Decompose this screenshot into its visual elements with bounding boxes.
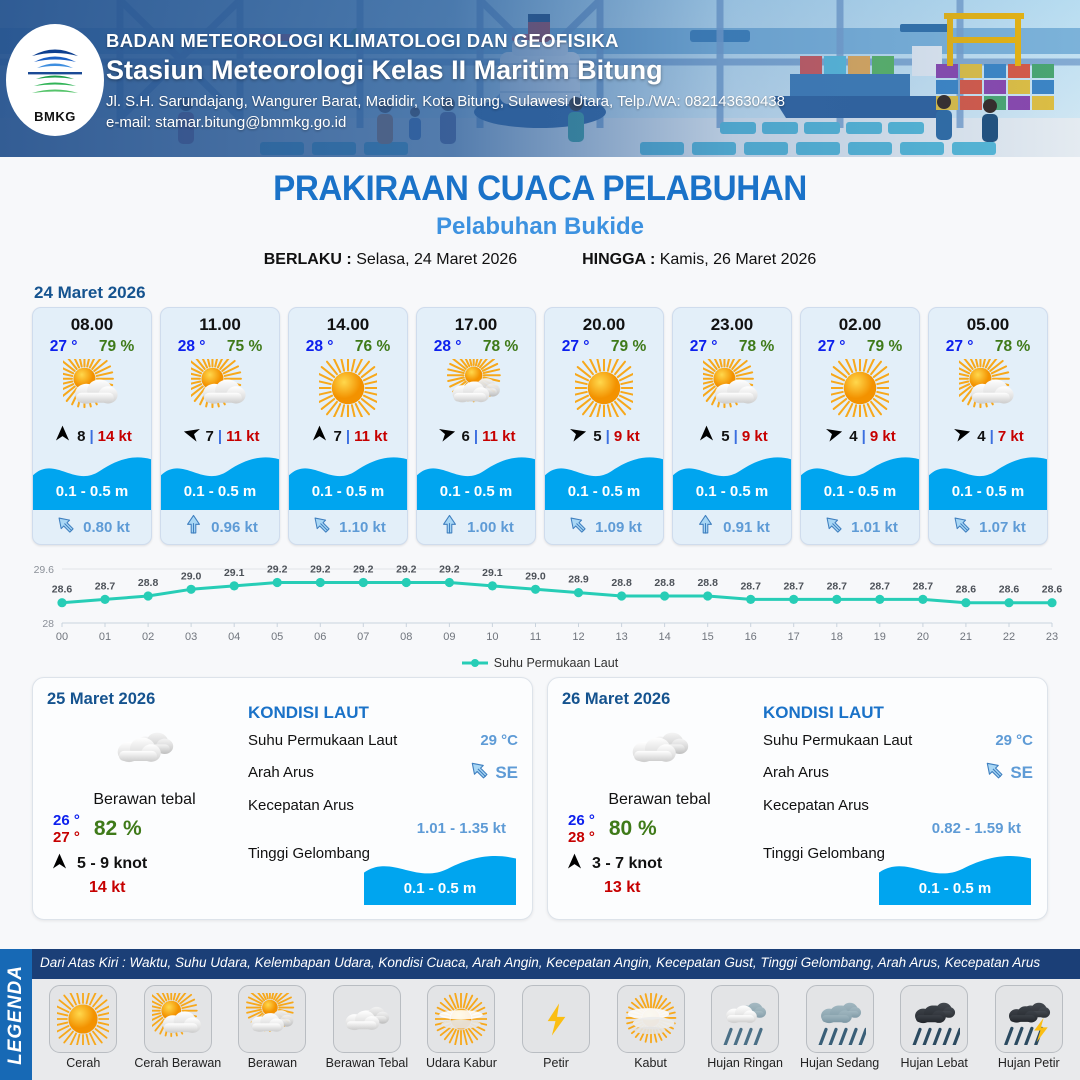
card-wave-height: 0.1 - 0.5 m <box>545 483 663 500</box>
card-wind-speed: 7 <box>206 428 214 445</box>
card-current-speed: 1.01 kt <box>851 519 898 536</box>
svg-text:28.7: 28.7 <box>740 580 761 592</box>
card-humidity: 75 % <box>227 338 262 356</box>
validity-line: BERLAKU : Selasa, 24 Maret 2026 HINGGA :… <box>0 251 1080 269</box>
legend-item-label: Berawan <box>248 1056 297 1070</box>
panel-sea-section-title: KONDISI LAUT <box>763 703 1033 723</box>
svg-text:29.2: 29.2 <box>396 564 417 576</box>
legend-hujan-lebat-icon <box>900 985 968 1053</box>
svg-text:28.7: 28.7 <box>783 580 804 592</box>
card-wind-direction-arrow-icon <box>824 423 845 449</box>
hourly-forecast-row: 08.00 27 ° 79 % 8 | 14 kt 0.1 - 0.5 m 0.… <box>0 307 1080 545</box>
svg-text:29.6: 29.6 <box>34 564 55 576</box>
panel-temp-min: 26 ° <box>53 812 80 829</box>
card-weather-berawan-icon <box>417 356 535 420</box>
card-humidity: 79 % <box>867 338 902 356</box>
svg-text:00: 00 <box>56 631 68 643</box>
panel-sst-label: Suhu Permukaan Laut <box>763 732 912 749</box>
card-humidity: 78 % <box>995 338 1030 356</box>
svg-text:29.2: 29.2 <box>439 564 460 576</box>
card-gust: 14 kt <box>98 428 132 445</box>
header-text-block: BADAN METEOROLOGI KLIMATOLOGI DAN GEOFIS… <box>106 30 785 131</box>
card-separator: | <box>346 428 350 445</box>
svg-text:28.7: 28.7 <box>95 580 116 592</box>
legend-udara-kabur-icon <box>427 985 495 1053</box>
panel-current-speed-label: Kecepatan Arus <box>248 797 354 814</box>
card-wave-band: 0.1 - 0.5 m <box>545 452 663 510</box>
card-wave-band: 0.1 - 0.5 m <box>417 452 535 510</box>
svg-text:28.9: 28.9 <box>568 574 589 586</box>
forecast-card: 14.00 28 ° 76 % 7 | 11 kt 0.1 - 0.5 m 1.… <box>288 307 408 545</box>
svg-text:28.8: 28.8 <box>697 577 718 589</box>
legend-strip: LEGENDA Dari Atas Kiri : Waktu, Suhu Uda… <box>0 949 1080 1080</box>
svg-text:17: 17 <box>788 631 800 643</box>
card-temperature: 27 ° <box>562 338 590 356</box>
forecast-card: 02.00 27 ° 79 % 4 | 9 kt 0.1 - 0.5 m 1.0… <box>800 307 920 545</box>
panel-current-direction-arrow-icon <box>982 758 1006 787</box>
svg-text:28.6: 28.6 <box>999 584 1020 596</box>
card-separator: | <box>474 428 478 445</box>
card-weather-cerah-berawan-icon <box>673 356 791 420</box>
card-wind-direction-arrow-icon <box>568 423 589 449</box>
legend-item: Petir <box>509 985 604 1070</box>
panel-humidity: 80 % <box>609 817 657 841</box>
legend-item: Cerah Berawan <box>131 985 226 1070</box>
card-temperature: 27 ° <box>946 338 974 356</box>
panel-weather-berawan-tebal-icon <box>562 711 757 785</box>
card-wave-height: 0.1 - 0.5 m <box>161 483 279 500</box>
legend-hujan-petir-icon <box>995 985 1063 1053</box>
card-current-speed: 1.10 kt <box>339 519 386 536</box>
card-weather-cerah-icon <box>801 356 919 420</box>
panel-current-dir-value: SE <box>1010 763 1033 783</box>
forecast-day-label: 24 Maret 2026 <box>34 283 1080 303</box>
legend-cerah-berawan-icon <box>144 985 212 1053</box>
svg-text:03: 03 <box>185 631 197 643</box>
title-block: PRAKIRAAN CUACA PELABUHAN Pelabuhan Buki… <box>0 157 1080 269</box>
daily-forecast-panels: 25 Maret 2026 Berawan tebal 26 ° 27 ° 82… <box>0 667 1080 920</box>
forecast-card: 08.00 27 ° 79 % 8 | 14 kt 0.1 - 0.5 m 0.… <box>32 307 152 545</box>
agency-name: BADAN METEOROLOGI KLIMATOLOGI DAN GEOFIS… <box>106 30 785 52</box>
panel-wave-label: Tinggi Gelombang <box>248 845 370 862</box>
bmkg-logo-icon <box>18 37 92 111</box>
page-subtitle: Pelabuhan Bukide <box>0 213 1080 241</box>
daily-panel: 25 Maret 2026 Berawan tebal 26 ° 27 ° 82… <box>32 677 533 920</box>
card-current-direction-arrow-icon <box>310 513 333 541</box>
card-gust: 7 kt <box>998 428 1024 445</box>
panel-sea-section-title: KONDISI LAUT <box>248 703 518 723</box>
svg-text:07: 07 <box>357 631 369 643</box>
legend-item: Udara Kabur <box>414 985 509 1070</box>
page-header: BMKG BADAN METEOROLOGI KLIMATOLOGI DAN G… <box>0 0 1080 157</box>
legend-side-title: LEGENDA <box>0 949 32 1080</box>
chart-legend-label: Suhu Permukaan Laut <box>494 656 618 670</box>
card-weather-cerah-berawan-icon <box>929 356 1047 420</box>
card-wave-height: 0.1 - 0.5 m <box>289 483 407 500</box>
sst-chart: 29.62828.60028.70128.80229.00329.10429.2… <box>0 557 1080 667</box>
legend-item: Berawan Tebal <box>320 985 415 1070</box>
panel-left: 26 Maret 2026 Berawan tebal 26 ° 28 ° 80… <box>562 690 757 907</box>
legend-item: Hujan Ringan <box>698 985 793 1070</box>
panel-date: 26 Maret 2026 <box>562 690 757 709</box>
panel-wave-band: 0.1 - 0.5 m <box>364 851 516 905</box>
svg-text:14: 14 <box>658 631 670 643</box>
card-current-direction-arrow-icon <box>950 513 973 541</box>
card-wind-speed: 5 <box>593 428 601 445</box>
card-weather-cerah-icon <box>545 356 663 420</box>
card-temperature: 28 ° <box>434 338 462 356</box>
chart-legend: Suhu Permukaan Laut <box>0 656 1080 670</box>
card-time: 05.00 <box>929 308 1047 335</box>
panel-wave-label: Tinggi Gelombang <box>763 845 885 862</box>
legend-item: Cerah <box>36 985 131 1070</box>
legend-item-label: Udara Kabur <box>426 1056 497 1070</box>
svg-text:28.6: 28.6 <box>1042 584 1063 596</box>
panel-sst-value: 29 °C <box>995 732 1033 749</box>
card-separator: | <box>990 428 994 445</box>
svg-text:29.1: 29.1 <box>482 567 503 579</box>
station-email: e-mail: stamar.bitung@bmmkg.go.id <box>106 114 785 131</box>
panel-right: KONDISI LAUT Suhu Permukaan Laut 29 °C A… <box>242 690 518 907</box>
legend-item-label: Cerah <box>66 1056 100 1070</box>
card-current-speed: 1.09 kt <box>595 519 642 536</box>
berlaku-value: Selasa, 24 Maret 2026 <box>356 251 517 268</box>
panel-current-direction-arrow-icon <box>467 758 491 787</box>
legend-item: Berawan <box>225 985 320 1070</box>
legend-note: Dari Atas Kiri : Waktu, Suhu Udara, Kele… <box>32 949 1080 979</box>
station-name: Stasiun Meteorologi Kelas II Maritim Bit… <box>106 55 785 86</box>
chart-legend-marker-icon <box>462 658 488 668</box>
card-gust: 11 kt <box>226 428 259 445</box>
card-separator: | <box>606 428 610 445</box>
card-current-direction-arrow-icon <box>438 513 461 541</box>
svg-text:28.7: 28.7 <box>827 580 848 592</box>
panel-wave-value: 0.1 - 0.5 m <box>364 880 516 897</box>
forecast-card: 11.00 28 ° 75 % 7 | 11 kt 0.1 - 0.5 m 0.… <box>160 307 280 545</box>
card-time: 14.00 <box>289 308 407 335</box>
svg-text:29.2: 29.2 <box>310 564 331 576</box>
legend-item: Hujan Petir <box>981 985 1076 1070</box>
card-wave-height: 0.1 - 0.5 m <box>417 483 535 500</box>
legend-item-label: Hujan Lebat <box>900 1056 967 1070</box>
card-separator: | <box>89 428 93 445</box>
svg-text:22: 22 <box>1003 631 1015 643</box>
card-gust: 11 kt <box>354 428 387 445</box>
card-weather-cerah-berawan-icon <box>161 356 279 420</box>
card-current-speed: 0.91 kt <box>723 519 770 536</box>
card-wave-band: 0.1 - 0.5 m <box>33 452 151 510</box>
svg-text:28.8: 28.8 <box>654 577 675 589</box>
forecast-card: 17.00 28 ° 78 % 6 | 11 kt 0.1 - 0.5 m 1.… <box>416 307 536 545</box>
card-time: 20.00 <box>545 308 663 335</box>
hingga-value: Kamis, 26 Maret 2026 <box>660 251 817 268</box>
hingga-label: HINGGA : <box>582 251 655 268</box>
panel-weather-berawan-tebal-icon <box>47 711 242 785</box>
panel-humidity: 82 % <box>94 817 142 841</box>
svg-text:08: 08 <box>400 631 412 643</box>
card-humidity: 76 % <box>355 338 390 356</box>
card-humidity: 79 % <box>611 338 646 356</box>
svg-text:28.7: 28.7 <box>913 580 934 592</box>
card-weather-cerah-icon <box>289 356 407 420</box>
panel-wind-direction-arrow-icon <box>49 851 70 877</box>
legend-hujan-ringan-icon <box>711 985 779 1053</box>
svg-text:28.6: 28.6 <box>956 584 977 596</box>
card-current-direction-arrow-icon <box>694 513 717 541</box>
forecast-card: 20.00 27 ° 79 % 5 | 9 kt 0.1 - 0.5 m 1.0… <box>544 307 664 545</box>
card-wind-speed: 5 <box>721 428 729 445</box>
card-weather-cerah-berawan-icon <box>33 356 151 420</box>
panel-sst-value: 29 °C <box>480 732 518 749</box>
card-wind-direction-arrow-icon <box>181 423 202 449</box>
card-separator: | <box>218 428 222 445</box>
svg-text:21: 21 <box>960 631 972 643</box>
card-temperature: 28 ° <box>178 338 206 356</box>
card-time: 23.00 <box>673 308 791 335</box>
card-temperature: 28 ° <box>306 338 334 356</box>
card-temperature: 27 ° <box>690 338 718 356</box>
svg-text:09: 09 <box>443 631 455 643</box>
card-current-direction-arrow-icon <box>54 513 77 541</box>
card-time: 11.00 <box>161 308 279 335</box>
page-title: PRAKIRAAN CUACA PELABUHAN <box>27 169 1053 209</box>
legend-berawan-tebal-icon <box>333 985 401 1053</box>
svg-text:28.8: 28.8 <box>138 577 159 589</box>
card-wave-height: 0.1 - 0.5 m <box>929 483 1047 500</box>
svg-text:15: 15 <box>702 631 714 643</box>
card-wind-direction-arrow-icon <box>696 423 717 449</box>
legend-item-label: Hujan Petir <box>998 1056 1060 1070</box>
panel-current-dir-value: SE <box>495 763 518 783</box>
card-time: 08.00 <box>33 308 151 335</box>
legend-item-label: Hujan Ringan <box>707 1056 783 1070</box>
card-humidity: 78 % <box>739 338 774 356</box>
svg-text:28: 28 <box>42 618 54 630</box>
sst-chart-svg: 29.62828.60028.70128.80229.00329.10429.2… <box>0 557 1080 649</box>
panel-condition: Berawan tebal <box>47 791 242 809</box>
panel-gust: 14 kt <box>47 879 242 897</box>
svg-text:11: 11 <box>530 631 541 643</box>
legend-item-label: Petir <box>543 1056 569 1070</box>
daily-panel: 26 Maret 2026 Berawan tebal 26 ° 28 ° 80… <box>547 677 1048 920</box>
card-separator: | <box>734 428 738 445</box>
card-wave-band: 0.1 - 0.5 m <box>801 452 919 510</box>
svg-text:04: 04 <box>228 631 240 643</box>
card-wave-band: 0.1 - 0.5 m <box>673 452 791 510</box>
legend-item: Hujan Lebat <box>887 985 982 1070</box>
card-temperature: 27 ° <box>50 338 78 356</box>
card-current-direction-arrow-icon <box>566 513 589 541</box>
legend-berawan-icon <box>238 985 306 1053</box>
card-current-speed: 1.07 kt <box>979 519 1026 536</box>
panel-wave-value: 0.1 - 0.5 m <box>879 880 1031 897</box>
legend-kabut-icon <box>617 985 685 1053</box>
svg-text:28.7: 28.7 <box>870 580 891 592</box>
panel-current-dir-label: Arah Arus <box>763 764 829 781</box>
card-gust: 11 kt <box>482 428 515 445</box>
card-wave-height: 0.1 - 0.5 m <box>673 483 791 500</box>
panel-right: KONDISI LAUT Suhu Permukaan Laut 29 °C A… <box>757 690 1033 907</box>
card-current-speed: 0.96 kt <box>211 519 258 536</box>
svg-text:29.1: 29.1 <box>224 567 245 579</box>
card-wind-direction-arrow-icon <box>952 423 973 449</box>
card-wave-band: 0.1 - 0.5 m <box>289 452 407 510</box>
legend-hujan-sedang-icon <box>806 985 874 1053</box>
forecast-card: 23.00 27 ° 78 % 5 | 9 kt 0.1 - 0.5 m 0.9… <box>672 307 792 545</box>
card-wind-speed: 4 <box>849 428 857 445</box>
bmkg-logo: BMKG <box>6 24 104 136</box>
card-wind-direction-arrow-icon <box>437 423 458 449</box>
svg-text:12: 12 <box>572 631 584 643</box>
svg-text:29.0: 29.0 <box>525 570 546 582</box>
svg-text:06: 06 <box>314 631 326 643</box>
card-gust: 9 kt <box>742 428 768 445</box>
card-wind-speed: 7 <box>334 428 342 445</box>
card-wind-speed: 6 <box>462 428 470 445</box>
panel-wind-range: 5 - 9 knot <box>77 855 147 873</box>
panel-current-speed-value: 0.82 - 1.59 kt <box>763 820 1033 837</box>
legend-item-label: Hujan Sedang <box>800 1056 879 1070</box>
legend-petir-icon <box>522 985 590 1053</box>
panel-sst-label: Suhu Permukaan Laut <box>248 732 397 749</box>
svg-text:02: 02 <box>142 631 154 643</box>
panel-temp-max: 28 ° <box>568 829 595 846</box>
card-current-direction-arrow-icon <box>822 513 845 541</box>
legend-item-label: Berawan Tebal <box>326 1056 408 1070</box>
legend-body: Dari Atas Kiri : Waktu, Suhu Udara, Kele… <box>32 949 1080 1080</box>
legend-side-title-text: LEGENDA <box>5 965 27 1065</box>
panel-temp-max: 27 ° <box>53 829 80 846</box>
svg-text:01: 01 <box>99 631 111 643</box>
svg-text:13: 13 <box>615 631 627 643</box>
card-time: 17.00 <box>417 308 535 335</box>
svg-text:29.2: 29.2 <box>353 564 374 576</box>
card-separator: | <box>862 428 866 445</box>
svg-text:05: 05 <box>271 631 283 643</box>
card-humidity: 78 % <box>483 338 518 356</box>
card-wave-height: 0.1 - 0.5 m <box>801 483 919 500</box>
card-wave-band: 0.1 - 0.5 m <box>161 452 279 510</box>
panel-wind-direction-arrow-icon <box>564 851 585 877</box>
panel-gust: 13 kt <box>562 879 757 897</box>
svg-text:18: 18 <box>831 631 843 643</box>
panel-current-speed-value: 1.01 - 1.35 kt <box>248 820 518 837</box>
card-gust: 9 kt <box>870 428 896 445</box>
card-wind-speed: 8 <box>77 428 85 445</box>
svg-text:23: 23 <box>1046 631 1058 643</box>
legend-items: Cerah Cerah Berawan Berawan Berawan Teba… <box>32 979 1080 1080</box>
card-humidity: 79 % <box>99 338 134 356</box>
panel-current-speed-label: Kecepatan Arus <box>763 797 869 814</box>
panel-wind-range: 3 - 7 knot <box>592 855 662 873</box>
svg-text:19: 19 <box>874 631 886 643</box>
card-current-speed: 1.00 kt <box>467 519 514 536</box>
svg-text:28.6: 28.6 <box>52 584 73 596</box>
svg-text:10: 10 <box>486 631 498 643</box>
panel-condition: Berawan tebal <box>562 791 757 809</box>
berlaku-label: BERLAKU : <box>264 251 352 268</box>
panel-temp-min: 26 ° <box>568 812 595 829</box>
svg-text:29.2: 29.2 <box>267 564 288 576</box>
card-time: 02.00 <box>801 308 919 335</box>
card-current-direction-arrow-icon <box>182 513 205 541</box>
card-temperature: 27 ° <box>818 338 846 356</box>
svg-text:29.0: 29.0 <box>181 570 202 582</box>
panel-left: 25 Maret 2026 Berawan tebal 26 ° 27 ° 82… <box>47 690 242 907</box>
legend-item: Hujan Sedang <box>792 985 887 1070</box>
legend-item-label: Kabut <box>634 1056 667 1070</box>
card-current-speed: 0.80 kt <box>83 519 130 536</box>
card-wind-direction-arrow-icon <box>309 423 330 449</box>
card-wind-speed: 4 <box>977 428 985 445</box>
card-gust: 9 kt <box>614 428 640 445</box>
legend-item: Kabut <box>603 985 698 1070</box>
panel-date: 25 Maret 2026 <box>47 690 242 709</box>
svg-text:28.8: 28.8 <box>611 577 632 589</box>
forecast-card: 05.00 27 ° 78 % 4 | 7 kt 0.1 - 0.5 m 1.0… <box>928 307 1048 545</box>
card-wave-band: 0.1 - 0.5 m <box>929 452 1047 510</box>
svg-text:16: 16 <box>745 631 757 643</box>
panel-wave-band: 0.1 - 0.5 m <box>879 851 1031 905</box>
bmkg-logo-text: BMKG <box>34 109 76 124</box>
card-wind-direction-arrow-icon <box>52 423 73 449</box>
panel-current-dir-label: Arah Arus <box>248 764 314 781</box>
station-address: Jl. S.H. Sarundajang, Wangurer Barat, Ma… <box>106 93 785 110</box>
svg-text:20: 20 <box>917 631 929 643</box>
card-wave-height: 0.1 - 0.5 m <box>33 483 151 500</box>
legend-item-label: Cerah Berawan <box>134 1056 221 1070</box>
legend-cerah-icon <box>49 985 117 1053</box>
